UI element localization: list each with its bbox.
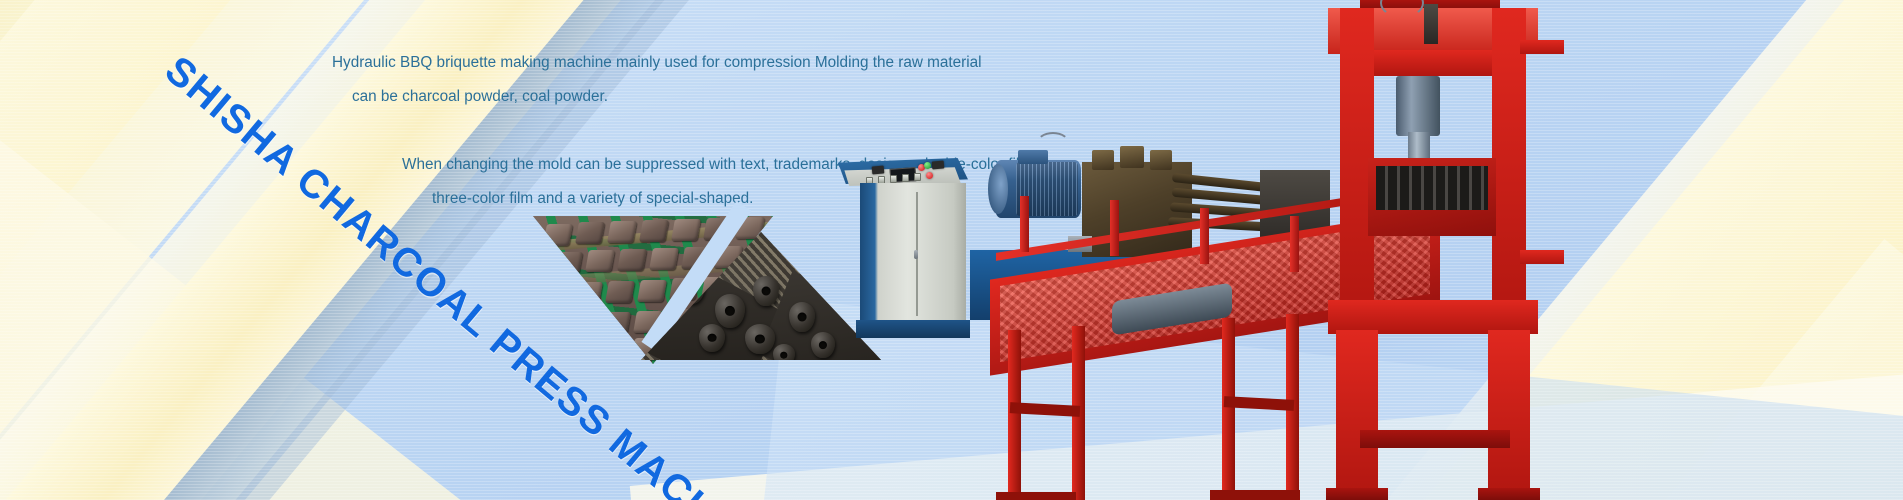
- push-button[interactable]: [890, 175, 897, 183]
- hydraulic-cylinder: [1396, 76, 1440, 136]
- press-cross-brace: [1360, 430, 1510, 448]
- press-side-bracket-bottom: [1520, 250, 1564, 264]
- push-button[interactable]: [914, 173, 921, 181]
- charcoal-nugget: [789, 302, 815, 332]
- motor-end-cap: [988, 164, 1008, 214]
- press-side-bracket-top: [1520, 40, 1564, 54]
- indicator-lamp-green: [924, 162, 931, 169]
- hydraulic-valve: [1150, 150, 1172, 170]
- conveyor-guard-post: [1020, 196, 1029, 252]
- panel-display-left: [872, 165, 885, 174]
- charcoal-nugget: [745, 324, 775, 354]
- charcoal-nugget: [699, 324, 725, 352]
- press-leg-right: [1488, 330, 1530, 500]
- charcoal-nugget: [773, 344, 795, 360]
- press-base-pad-right: [1478, 488, 1540, 500]
- motor-power-cable: [1036, 132, 1070, 156]
- emergency-stop-button[interactable]: [926, 172, 933, 179]
- press-base-pad-left: [1326, 488, 1388, 500]
- cabinet-base: [856, 320, 970, 338]
- press-leg-left: [1336, 330, 1378, 500]
- mould-cavity-grid: [1376, 166, 1488, 210]
- conveyor-guard-post: [1200, 208, 1209, 264]
- conveyor-foot-rail: [1210, 490, 1300, 500]
- conveyor-guard-post: [1110, 200, 1119, 256]
- conveyor-leg: [1222, 318, 1235, 500]
- conveyor-leg: [1008, 330, 1021, 500]
- press-column-right: [1492, 8, 1526, 338]
- machine-photo: [820, 0, 1903, 500]
- press-crossbeam: [1328, 300, 1538, 334]
- hydraulic-valve: [1092, 150, 1114, 170]
- charcoal-nugget: [715, 294, 745, 328]
- conveyor-guard-post: [1290, 216, 1299, 272]
- push-button[interactable]: [902, 174, 909, 182]
- promo-banner: SHISHA CHARCOAL PRESS MACHINE Hydraulic …: [0, 0, 1903, 500]
- charcoal-nugget: [753, 276, 779, 306]
- conveyor-foot-rail: [996, 492, 1076, 500]
- control-cabinet-body: [860, 183, 966, 323]
- panel-display-right: [932, 160, 945, 169]
- hydraulic-valve: [1120, 146, 1144, 168]
- press-pipe: [1424, 4, 1438, 44]
- cabinet-door-handle[interactable]: [914, 250, 918, 259]
